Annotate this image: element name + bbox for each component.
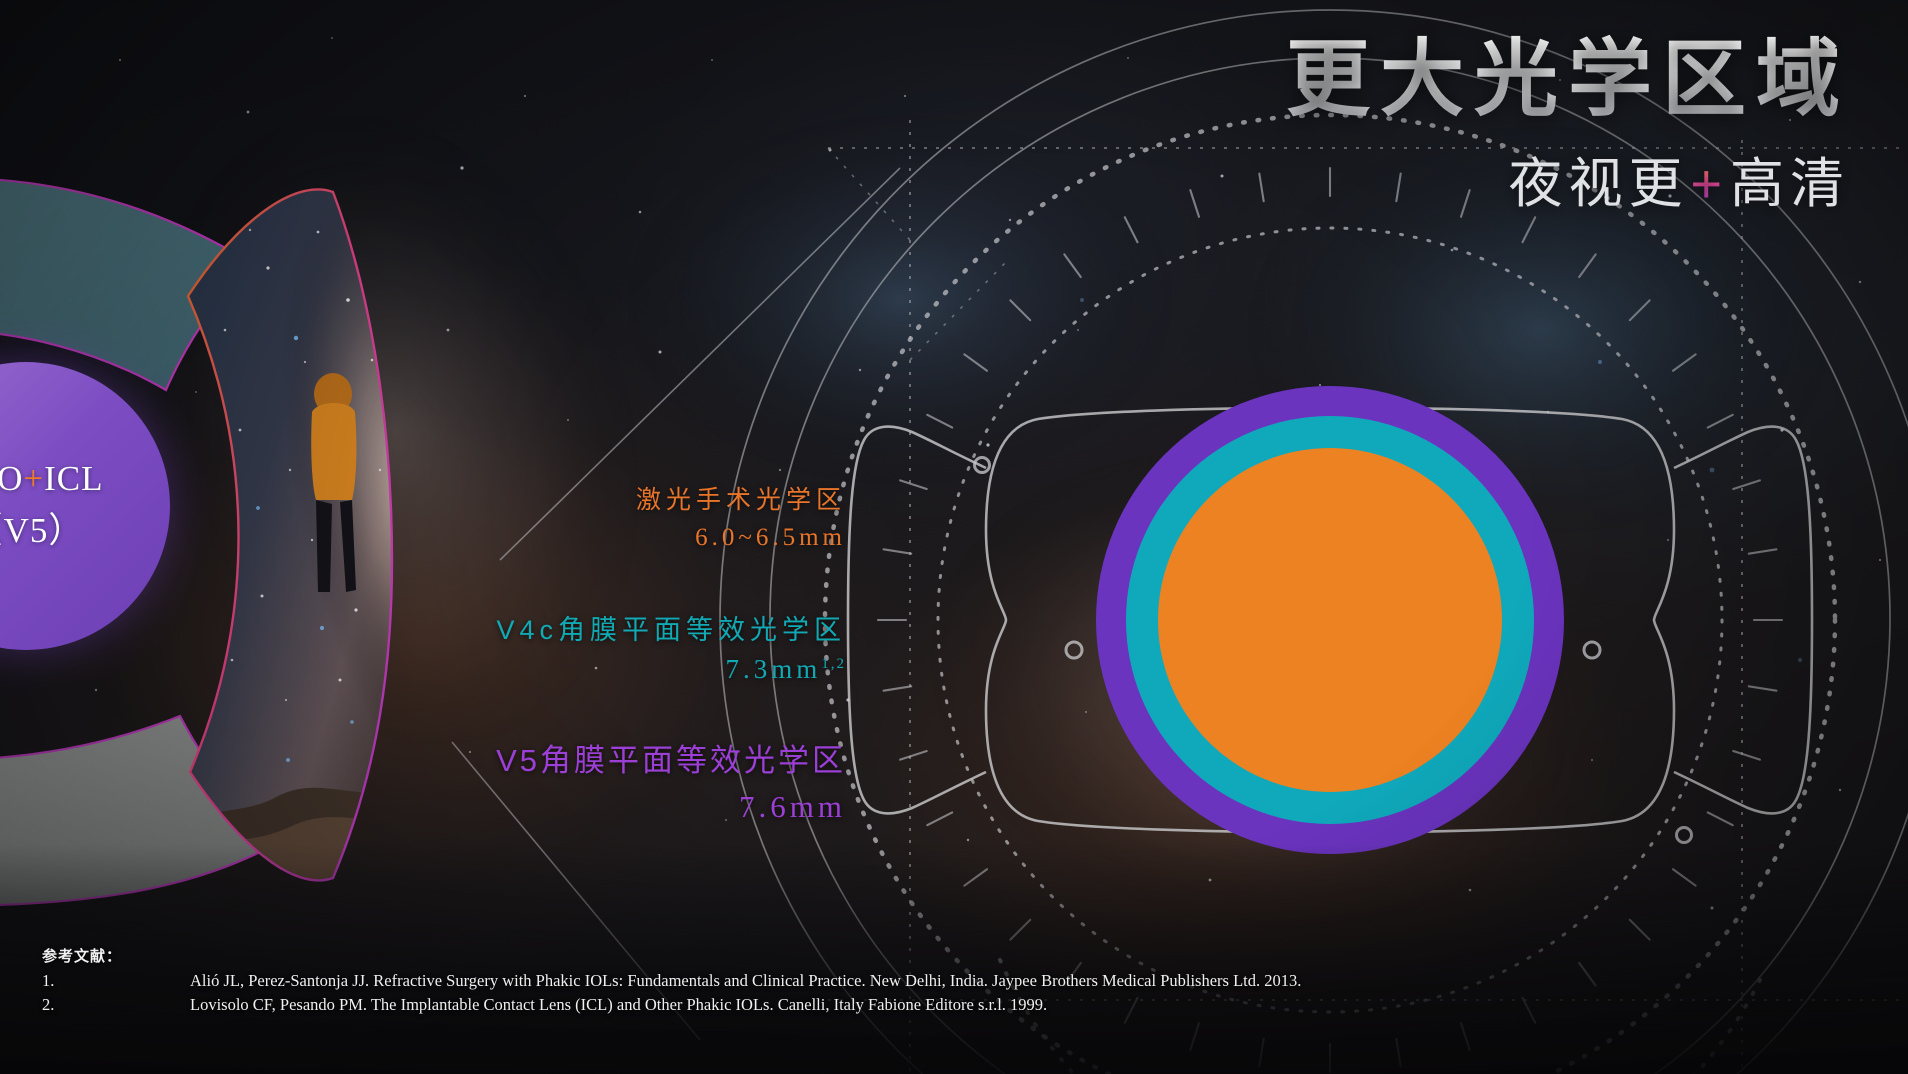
badge-model: （V5） <box>0 502 84 553</box>
page-subtitle: 夜视更+高清 <box>1286 139 1850 218</box>
measurement-laser-surgery-optic-zone: 激光手术光学区 6.0~6.5mm <box>636 484 846 558</box>
measurement-label: 激光手术光学区 <box>636 484 846 518</box>
measurement-v4c-corneal-plane-optic-zone: V4c角膜平面等效光学区 7.3mm1,2 <box>496 612 846 692</box>
badge-text-before: EVO <box>0 459 23 498</box>
badge-product-name: EVO+ICL <box>0 459 104 499</box>
slide-canvas: 更大光学区域 夜视更+高清 EVO+ICL （V5） 激光手术光学区 6.0~6… <box>0 0 1908 1074</box>
measurement-value-text: 7.3mm <box>725 654 821 684</box>
page-title: 更大光学区域 <box>1286 34 1850 125</box>
reference-text: Alió JL, Perez-Santonja JJ. Refractive S… <box>190 969 1301 992</box>
reference-number: 2. <box>42 993 190 1016</box>
measurement-value: 7.3mm1,2 <box>496 648 846 691</box>
badge-plus-icon: + <box>23 459 44 498</box>
measurement-value: 6.0~6.5mm <box>636 518 846 558</box>
plus-icon: + <box>1688 154 1730 214</box>
measurement-label: V4c角膜平面等效光学区 <box>496 612 846 648</box>
references-block: 参考文献： 1. Alió JL, Perez-Santonja JJ. Ref… <box>42 945 1301 1016</box>
reference-number: 1. <box>42 969 190 992</box>
measurement-v5-corneal-plane-optic-zone: V5角膜平面等效光学区 7.6mm <box>496 740 846 831</box>
reference-item: 1. Alió JL, Perez-Santonja JJ. Refractiv… <box>42 969 1301 992</box>
measurement-reference-marks: 1,2 <box>821 656 846 672</box>
subtitle-text-after: 高清 <box>1730 154 1850 214</box>
subtitle-text-before: 夜视更 <box>1508 154 1688 214</box>
headline-block: 更大光学区域 夜视更+高清 <box>1286 34 1850 218</box>
reference-item: 2. Lovisolo CF, Pesando PM. The Implanta… <box>42 993 1301 1016</box>
reference-text: Lovisolo CF, Pesando PM. The Implantable… <box>190 993 1047 1016</box>
measurement-label: V5角膜平面等效光学区 <box>496 740 846 782</box>
references-title: 参考文献： <box>42 945 1301 966</box>
badge-text-after: ICL <box>44 459 103 498</box>
measurement-value: 7.6mm <box>496 782 846 832</box>
